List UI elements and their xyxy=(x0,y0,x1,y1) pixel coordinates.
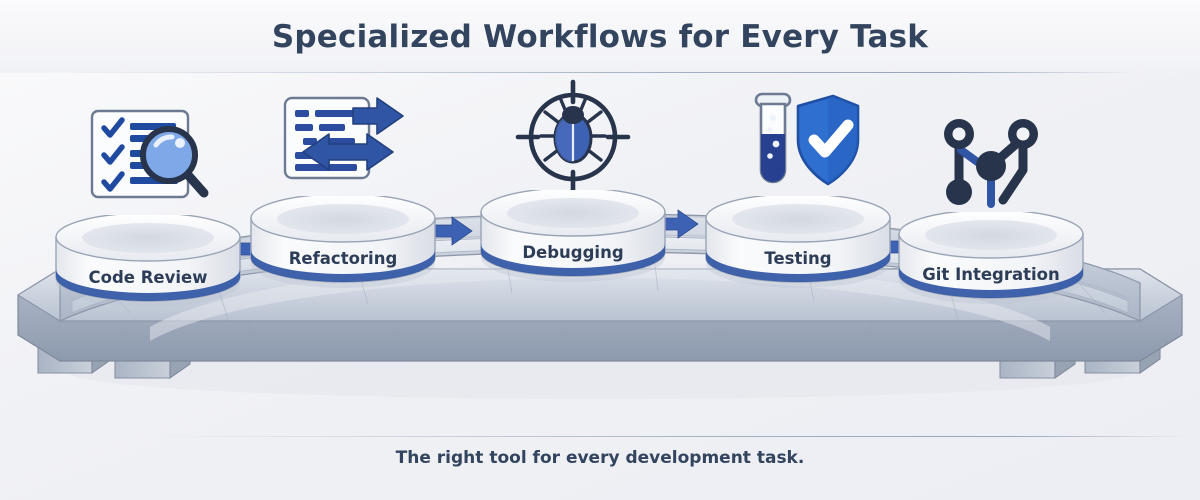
pedestal-cylinder xyxy=(705,196,891,292)
pedestal-cylinder xyxy=(250,196,436,292)
code-swap-arrows-icon xyxy=(277,94,409,209)
pedestal-cylinder xyxy=(480,190,666,286)
node-refactoring[interactable]: Refactoring xyxy=(250,196,436,292)
diagram-canvas: Specialized Workflows for Every Task xyxy=(0,0,1200,500)
node-git-integration[interactable]: Git Integration xyxy=(898,212,1084,308)
pedestal-cylinder xyxy=(55,215,241,311)
checklist-magnifier-icon xyxy=(78,105,218,228)
test-tube-shield-icon xyxy=(734,88,862,205)
bottom-divider xyxy=(150,436,1190,437)
test-tube xyxy=(756,94,790,182)
node-debugging[interactable]: Debugging xyxy=(480,190,666,286)
git-branch-icon xyxy=(933,108,1049,221)
page-title: Specialized Workflows for Every Task xyxy=(272,19,928,55)
bug-crosshair-icon xyxy=(514,78,632,201)
shield-check xyxy=(798,96,858,184)
node-testing[interactable]: Testing xyxy=(705,196,891,292)
footer-caption: The right tool for every development tas… xyxy=(0,448,1200,468)
node-code-review[interactable]: Code Review xyxy=(55,215,241,311)
title-band: Specialized Workflows for Every Task xyxy=(0,0,1200,73)
pedestal-cylinder xyxy=(898,212,1084,308)
